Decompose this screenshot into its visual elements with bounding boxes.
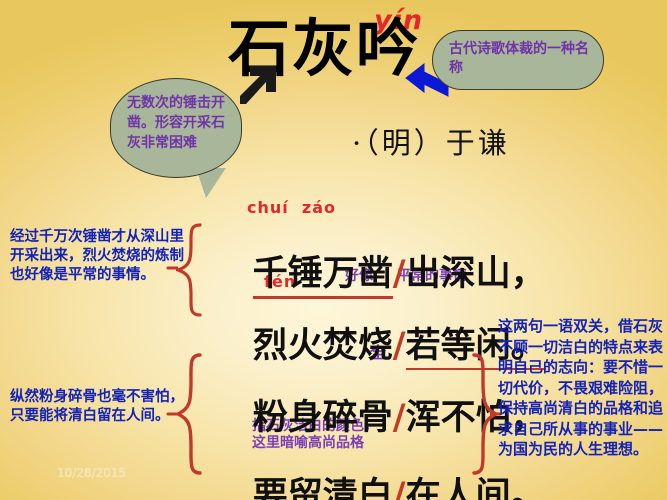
poem-line-2-part1: 烈火焚烧 [253, 326, 393, 366]
poem-line-4-slash: / [393, 476, 406, 500]
author-line: ·（明）于谦 [352, 120, 510, 162]
poem-line-2-slash: / [393, 326, 406, 366]
poem-line-3-slash: / [393, 398, 406, 438]
explanation-left-top: 经过千万次锤凿才从深山里开采出来，烈火焚烧的炼制也好像是平常的事情。 [10, 228, 185, 285]
explanation-left-bottom: 纵然粉身碎骨也毫不害怕，只要能将清白留在人间。 [10, 388, 185, 426]
poem-line-3-part1: 粉身碎骨 [253, 398, 393, 438]
callout-genre: 古代诗歌体裁的一种名称 [432, 30, 604, 90]
poem-line-4-part1: 要留清白 [253, 476, 393, 500]
poem-line-1-part2: 出深山， [406, 254, 546, 294]
poem-line-4-part2: 在人间。 [406, 476, 546, 500]
footer-date: 10/28/2015 [57, 466, 126, 480]
poem-line-1-part1: 千锤万凿 [253, 254, 393, 299]
explanation-right: 这两句一语双关，借石灰不顾一切洁白的特点来表明自己的志向：要不惜一切代价，不畏艰… [498, 316, 663, 460]
pinyin-line-1: chuí záo [247, 198, 336, 217]
poem-line-1-slash: / [393, 254, 406, 294]
hammer-arrow-icon [236, 62, 280, 108]
callout-hammer: 无数次的锤击开凿。形容开采石灰非常困难 [110, 78, 242, 178]
slide-canvas: yín 石灰吟 ·（明）于谦 古代诗歌体裁的一种名称 无数次的锤击开凿。形容开采… [0, 0, 667, 500]
